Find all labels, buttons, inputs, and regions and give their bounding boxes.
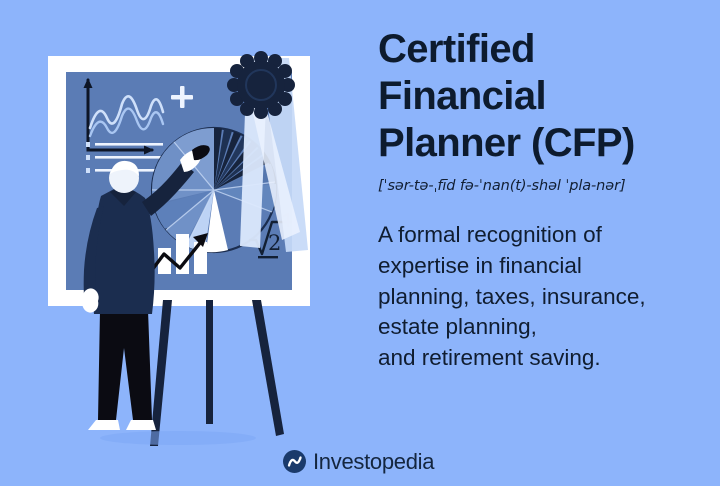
investopedia-logo: Investopedia bbox=[283, 450, 434, 473]
term-definition: A formal recognition of expertise in fin… bbox=[378, 220, 704, 373]
investopedia-mark-icon bbox=[283, 450, 306, 473]
presenter-left-hand bbox=[82, 288, 98, 312]
illustration: 2 bbox=[0, 0, 360, 486]
pronunciation: [ˈsər-tə-ˌfīd fə-ˈnan(t)-shəl ˈpla-nər] bbox=[378, 178, 704, 194]
svg-text:2: 2 bbox=[268, 231, 281, 255]
investopedia-definition-card: 2 bbox=[0, 0, 720, 486]
presenter-shoe-right bbox=[126, 420, 156, 430]
investopedia-wordmark: Investopedia bbox=[313, 451, 434, 473]
text-column: Certified Financial Planner (CFP) [ˈsər-… bbox=[378, 26, 704, 373]
term-title: Certified Financial Planner (CFP) bbox=[378, 26, 704, 166]
